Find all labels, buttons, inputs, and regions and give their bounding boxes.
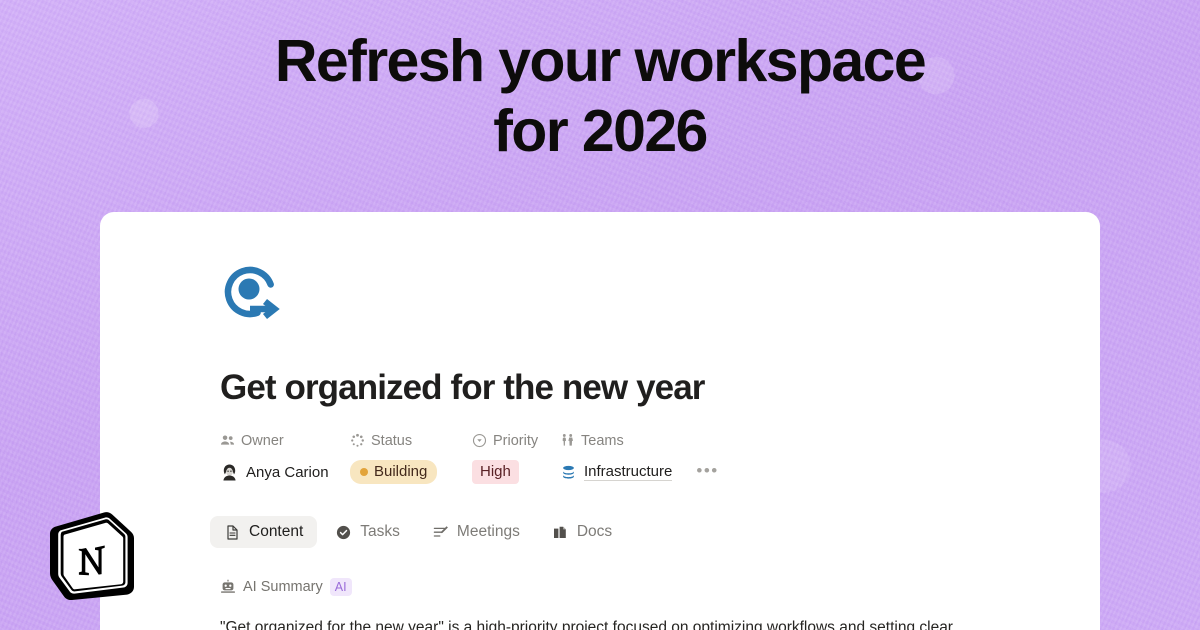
property-priority-label-row: Priority [472,430,560,451]
property-status[interactable]: Status Building [350,430,472,484]
card-content: Get organized for the new year Owner [100,212,1100,630]
tab-meetings-label: Meetings [457,523,520,541]
check-circle-icon [335,524,352,541]
tab-meetings[interactable]: Meetings [418,516,534,548]
property-status-value: Building [374,462,427,482]
tab-bar: Content Tasks Meetings [210,516,1100,548]
ai-summary-header: AI Summary AI [220,578,1100,596]
page-headline: Refresh your workspace for 2026 [0,26,1200,166]
property-owner-value: Anya Carion [246,464,329,481]
headline-line-1: Refresh your workspace [0,26,1200,96]
property-status-value-row[interactable]: Building [350,460,472,484]
page-title: Get organized for the new year [220,368,1100,408]
ai-badge: AI [330,578,352,596]
property-priority-label: Priority [493,433,538,449]
property-owner[interactable]: Owner Anya Carion [220,430,350,484]
properties-more-button[interactable]: ••• [696,460,718,484]
robot-icon [220,579,236,595]
tab-docs[interactable]: Docs [538,516,626,548]
properties-row: Owner Anya Carion [220,430,1100,484]
property-priority-value-row[interactable]: High [472,460,560,484]
property-status-label: Status [371,433,412,449]
goal-target-arrow-icon [220,260,284,324]
ai-summary-text: "Get organized for the new year" is a hi… [220,616,960,630]
app-preview-card: Get organized for the new year Owner [100,212,1100,630]
property-owner-label-row: Owner [220,430,350,451]
ai-summary-label: AI Summary [243,579,323,595]
avatar [220,463,239,482]
status-dot-icon [360,468,368,476]
docs-stack-icon [552,524,569,541]
property-owner-label: Owner [241,433,284,449]
notion-cube-logo [50,508,138,600]
ai-summary-block: AI Summary AI "Get organized for the new… [220,578,1100,630]
property-teams-value[interactable]: Infrastructure [584,463,672,481]
property-priority[interactable]: Priority High [472,430,560,484]
two-people-standing-icon [560,433,575,448]
database-stack-icon [560,464,577,481]
tab-content-label: Content [249,523,303,541]
property-teams[interactable]: Teams Infrastructure [560,430,672,484]
property-teams-label-row: Teams [560,430,672,451]
status-badge[interactable]: Building [350,460,437,484]
property-teams-value-row[interactable]: Infrastructure [560,460,672,484]
spinner-dots-icon [350,433,365,448]
tab-tasks[interactable]: Tasks [321,516,414,548]
property-teams-label: Teams [581,433,624,449]
property-status-label-row: Status [350,430,472,451]
circle-chevron-down-icon [472,433,487,448]
property-owner-value-row[interactable]: Anya Carion [220,460,350,484]
property-priority-value: High [480,462,511,482]
tab-docs-label: Docs [577,523,612,541]
notes-pencil-icon [432,524,449,541]
people-icon [220,433,235,448]
headline-line-2: for 2026 [0,96,1200,166]
priority-badge[interactable]: High [472,460,519,484]
document-icon [224,524,241,541]
tab-tasks-label: Tasks [360,523,400,541]
tab-content[interactable]: Content [210,516,317,548]
